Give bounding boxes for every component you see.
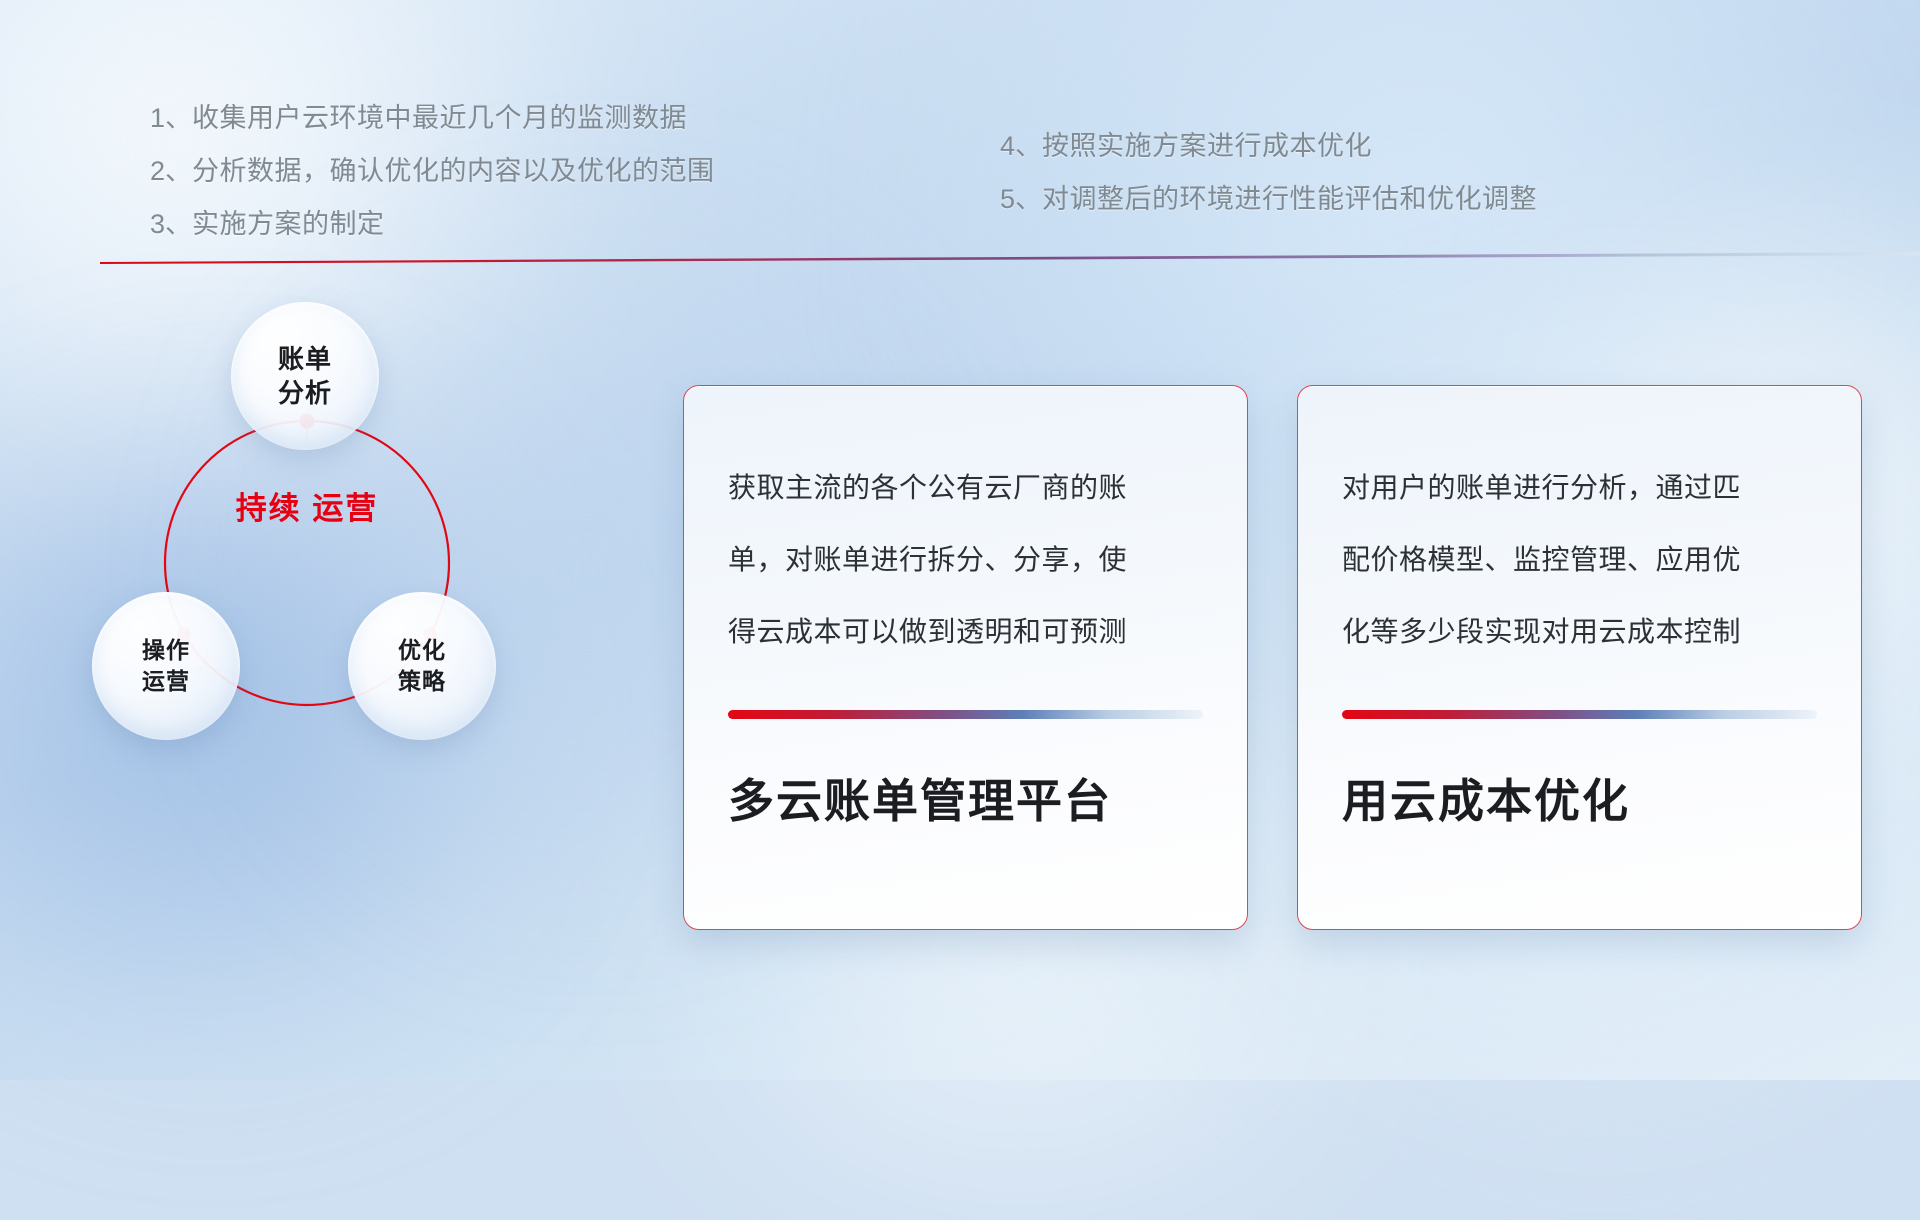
section-divider	[100, 252, 1920, 264]
card-description-line: 化等多少段实现对用云成本控制	[1342, 596, 1817, 668]
center-label-line-2: 运营	[312, 491, 378, 526]
card-description-line: 单，对账单进行拆分、分享，使	[728, 524, 1203, 596]
card-title: 多云账单管理平台	[728, 765, 1203, 831]
center-label-line-1: 持续	[236, 491, 302, 526]
list-item-number: 1、	[150, 103, 192, 133]
node-label-line-2: 策略	[398, 666, 446, 697]
list-item: 5、对调整后的环境进行性能评估和优化调整	[1000, 173, 1537, 226]
list-item-label: 对调整后的环境进行性能评估和优化调整	[1042, 184, 1537, 214]
list-item-number: 3、	[150, 209, 192, 239]
list-item-label: 收集用户云环境中最近几个月的监测数据	[192, 103, 687, 133]
diagram-node-operation-management[interactable]: 操作 运营	[92, 592, 240, 740]
list-item-label: 分析数据，确认优化的内容以及优化的范围	[192, 156, 715, 186]
card-description-line: 配价格模型、监控管理、应用优	[1342, 524, 1817, 596]
list-item: 2、分析数据，确认优化的内容以及优化的范围	[150, 145, 715, 198]
diagram-center-label: 持续 运营	[232, 488, 382, 530]
list-item: 3、实施方案的制定	[150, 198, 715, 251]
node-label-line-2: 运营	[142, 666, 190, 697]
steps-column-right: 4、按照实施方案进行成本优化 5、对调整后的环境进行性能评估和优化调整	[1000, 120, 1537, 226]
node-label-line-1: 操作	[142, 635, 190, 666]
diagram-node-optimization-policy[interactable]: 优化 策略	[348, 592, 496, 740]
card-multi-cloud-bill-platform[interactable]: 获取主流的各个公有云厂商的账 单，对账单进行拆分、分享，使 得云成本可以做到透明…	[683, 385, 1248, 930]
list-item: 4、按照实施方案进行成本优化	[1000, 120, 1537, 173]
list-item-number: 5、	[1000, 184, 1042, 214]
card-description: 对用户的账单进行分析，通过匹 配价格模型、监控管理、应用优 化等多少段实现对用云…	[1342, 452, 1817, 668]
list-item-number: 2、	[150, 156, 192, 186]
card-title: 用云成本优化	[1342, 765, 1817, 831]
list-item: 1、收集用户云环境中最近几个月的监测数据	[150, 92, 715, 145]
node-label-line-2: 分析	[278, 376, 332, 410]
card-accent-rule	[728, 710, 1203, 719]
list-item-number: 4、	[1000, 131, 1042, 161]
card-description: 获取主流的各个公有云厂商的账 单，对账单进行拆分、分享，使 得云成本可以做到透明…	[728, 452, 1203, 668]
list-item-label: 实施方案的制定	[192, 209, 385, 239]
card-description-line: 得云成本可以做到透明和可预测	[728, 596, 1203, 668]
card-description-line: 获取主流的各个公有云厂商的账	[728, 452, 1203, 524]
continuous-operation-diagram: 账单 分析 操作 运营 优化 策略 持续 运营	[80, 280, 550, 780]
node-label-line-1: 账单	[278, 342, 332, 376]
card-description-line: 对用户的账单进行分析，通过匹	[1342, 452, 1817, 524]
steps-column-left: 1、收集用户云环境中最近几个月的监测数据 2、分析数据，确认优化的内容以及优化的…	[150, 92, 715, 251]
card-accent-rule	[1342, 710, 1817, 719]
list-item-label: 按照实施方案进行成本优化	[1042, 131, 1372, 161]
diagram-node-bill-analysis[interactable]: 账单 分析	[231, 302, 379, 450]
node-label-line-1: 优化	[398, 635, 446, 666]
card-cloud-cost-optimization[interactable]: 对用户的账单进行分析，通过匹 配价格模型、监控管理、应用优 化等多少段实现对用云…	[1297, 385, 1862, 930]
